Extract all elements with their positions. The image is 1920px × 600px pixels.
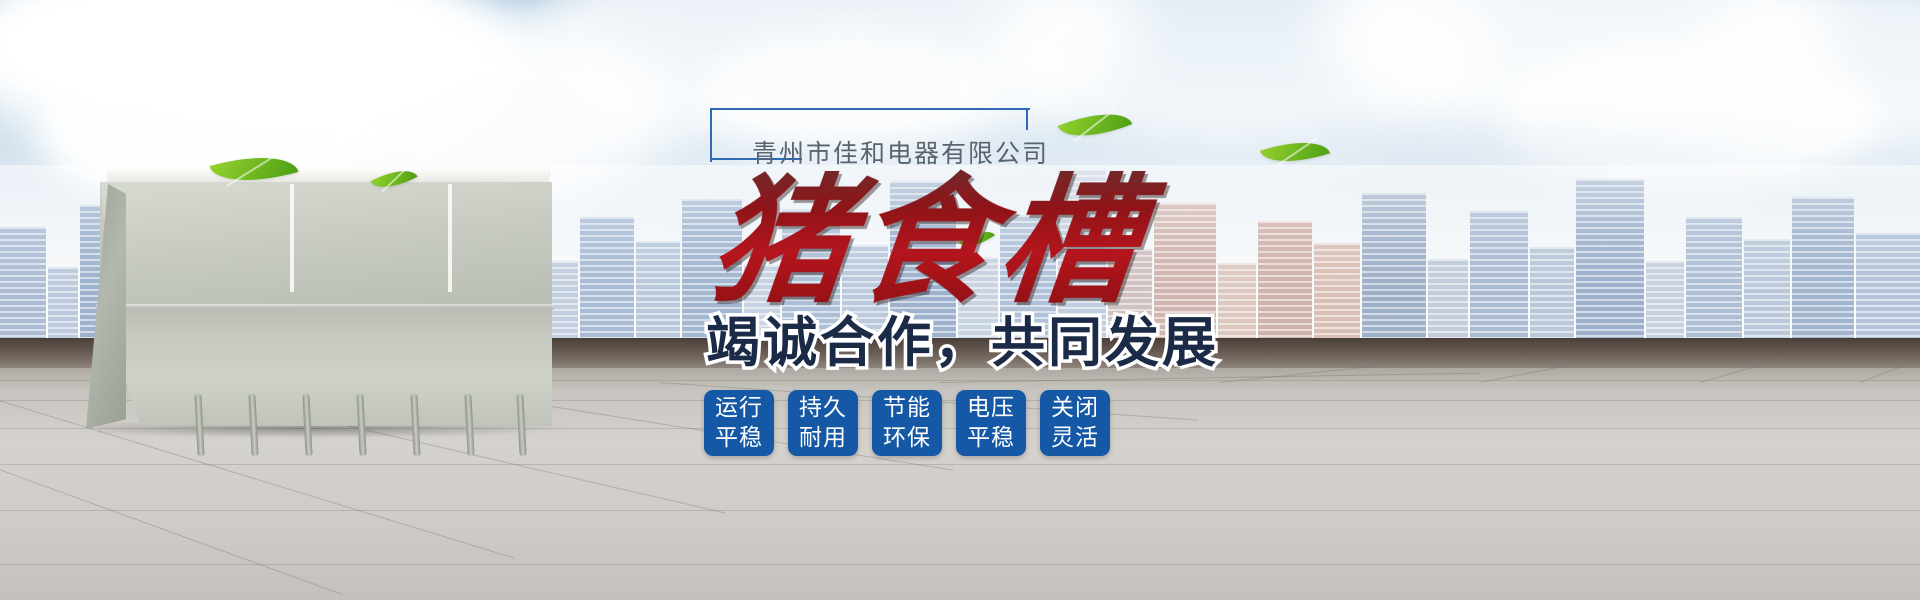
badge-line-1: 持久 — [799, 393, 847, 423]
feature-badge-1[interactable]: 运行 平稳 — [704, 390, 774, 456]
banner-copy: 青州市佳和电器有限公司 猪食槽 竭诚合作，共同发展 运行 平稳 持久 耐用 节能… — [690, 100, 1450, 570]
badge-line-2: 环保 — [883, 423, 931, 453]
slogan: 竭诚合作，共同发展 — [706, 312, 1366, 374]
feature-badge-list: 运行 平稳 持久 耐用 节能 环保 电压 平稳 关闭 灵活 — [704, 390, 1110, 456]
badge-line-2: 平稳 — [967, 423, 1015, 453]
feature-badge-3[interactable]: 节能 环保 — [872, 390, 942, 456]
product-image-pig-feeding-trough — [78, 160, 548, 460]
feature-badge-4[interactable]: 电压 平稳 — [956, 390, 1026, 456]
badge-line-2: 平稳 — [715, 423, 763, 453]
feature-badge-5[interactable]: 关闭 灵活 — [1040, 390, 1110, 456]
badge-line-2: 灵活 — [1051, 423, 1099, 453]
promo-banner: 青州市佳和电器有限公司 猪食槽 竭诚合作，共同发展 运行 平稳 持久 耐用 节能… — [0, 0, 1920, 600]
badge-line-1: 关闭 — [1051, 393, 1099, 423]
page-title: 猪食槽 — [704, 166, 1360, 316]
badge-line-1: 节能 — [883, 393, 931, 423]
feature-badge-2[interactable]: 持久 耐用 — [788, 390, 858, 456]
badge-line-1: 电压 — [967, 393, 1015, 423]
badge-line-2: 耐用 — [799, 423, 847, 453]
badge-line-1: 运行 — [715, 393, 763, 423]
